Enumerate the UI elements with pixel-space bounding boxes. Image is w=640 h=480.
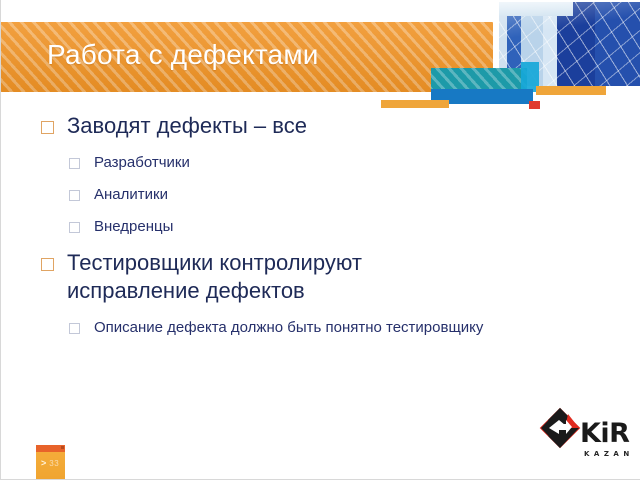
badge-content: > 33	[41, 459, 59, 468]
bullet-level2-text: Описание дефекта должно быть понятно тес…	[94, 316, 483, 339]
spacer	[41, 175, 561, 183]
logo-wordmark: KiR	[580, 420, 629, 447]
bullet-level1-text: Заводят дефекты – все	[67, 112, 307, 140]
presentation-slide: Работа с дефектами Заводят дефекты – все…	[0, 0, 640, 480]
square-bullet-marker-icon	[41, 121, 54, 134]
photo-sky-band	[499, 2, 573, 16]
square-bullet-marker-icon	[69, 158, 80, 169]
bullet-level1-text: Тестировщики контролируют исправление де…	[67, 249, 467, 305]
orange-bar-right	[536, 86, 606, 95]
kir-kazan-logo: KiR KAZAN	[534, 404, 632, 468]
spacer	[41, 207, 561, 215]
bullet-level1: Заводят дефекты – все	[41, 112, 561, 140]
bullet-level2-text: Внедренцы	[94, 215, 173, 238]
chevron-right-icon: >	[41, 459, 46, 468]
spacer	[41, 239, 561, 249]
logo-subtitle: KAZAN	[584, 450, 634, 458]
slide-header-decoration: Работа с дефектами	[1, 0, 640, 118]
red-square-accent	[529, 101, 540, 109]
bullet-level1: Тестировщики контролируют исправление де…	[41, 249, 561, 305]
logo-diamond-icon	[538, 406, 582, 450]
bullet-level2-text: Аналитики	[94, 183, 168, 206]
square-bullet-marker-icon	[41, 258, 54, 271]
page-number-badge: > 33	[36, 445, 65, 480]
spacer	[41, 307, 561, 316]
square-bullet-marker-icon	[69, 323, 80, 334]
badge-corner-dot	[61, 446, 64, 449]
page-number: 33	[49, 459, 59, 468]
square-bullet-marker-icon	[69, 190, 80, 201]
bullet-level2: Внедренцы	[41, 215, 561, 238]
bullet-level2: Аналитики	[41, 183, 561, 206]
slide-body-content: Заводят дефекты – все Разработчики Анали…	[41, 112, 561, 340]
spacer	[41, 142, 561, 151]
orange-bar-left	[381, 100, 449, 108]
badge-top-strip	[36, 445, 65, 452]
slide-title: Работа с дефектами	[47, 38, 467, 72]
bullet-level2-text: Разработчики	[94, 151, 190, 174]
square-bullet-marker-icon	[69, 222, 80, 233]
bullet-level2: Разработчики	[41, 151, 561, 174]
bullet-level2: Описание дефекта должно быть понятно тес…	[41, 316, 561, 339]
